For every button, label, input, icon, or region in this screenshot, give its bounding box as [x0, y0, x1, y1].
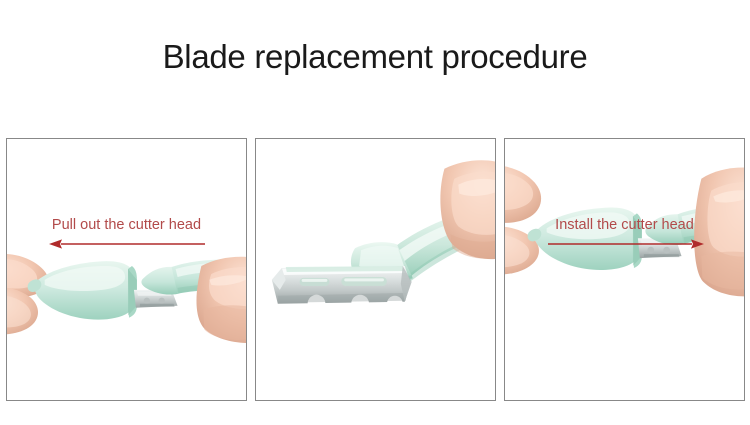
- panel-pull-out: Pull out the cutter head: [6, 138, 247, 401]
- scene-two-hands-joining-peeler: [505, 139, 744, 400]
- scene-two-hands-separating-peeler: [7, 139, 246, 400]
- panel-caption-pull-out: Pull out the cutter head: [7, 217, 246, 233]
- arrow-right: [543, 238, 708, 250]
- panel-install: Install the cutter head: [504, 138, 745, 401]
- panel-caption-install: Install the cutter head: [505, 217, 744, 233]
- blade-replacement-infographic: Blade replacement procedure: [0, 0, 750, 425]
- panel-strip: Pull out the cutter head: [6, 138, 746, 401]
- panel-blade-exposed: [255, 138, 496, 401]
- page-title: Blade replacement procedure: [0, 38, 750, 76]
- arrow-left: [45, 238, 210, 250]
- scene-hand-holding-peeler-with-blade: [256, 139, 495, 400]
